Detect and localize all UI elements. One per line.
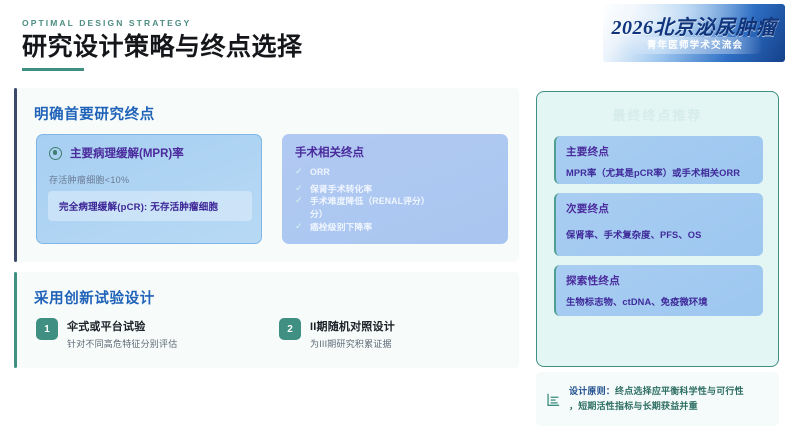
design-step-1: 1 伞式或平台试验 针对不同高危特征分别评估 bbox=[36, 318, 177, 350]
pcr-chip-text: 完全病理缓解(pCR): 无存活肿瘤细胞 bbox=[59, 199, 218, 213]
endpoint-value: 保肾率、手术复杂度、PFS、OS bbox=[566, 227, 752, 241]
check-icon: ✓ bbox=[295, 184, 303, 192]
slide-root: OPTIMAL DESIGN STRATEGY 研究设计策略与终点选择 2026… bbox=[0, 0, 793, 442]
surgical-endpoint-title: 手术相关终点 bbox=[295, 144, 364, 160]
design-principle-text: 设计原则：终点选择应平衡科学性与可行性，短期活性指标与长期获益并重 bbox=[569, 384, 744, 415]
list-item-label: 保肾手术转化率 bbox=[310, 184, 372, 194]
primary-endpoint-heading: 明确首要研究终点 bbox=[34, 103, 155, 124]
design-step-2: 2 II期随机对照设计 为III期研究积累证据 bbox=[279, 318, 395, 350]
list-item: ✓保肾手术转化率 bbox=[295, 183, 501, 197]
check-icon: ✓ bbox=[295, 196, 303, 204]
endpoint-recommendation-title: 最终终点推荐 bbox=[537, 105, 778, 124]
step-description: 为III期研究积累证据 bbox=[310, 337, 395, 350]
pcr-chip: 完全病理缓解(pCR): 无存活肿瘤细胞 bbox=[48, 191, 252, 221]
primary-endpoint-card: 明确首要研究终点 主要病理缓解(MPR)率 存活肿瘤细胞<10% 完全病理缓解(… bbox=[14, 88, 519, 262]
mpr-box: 主要病理缓解(MPR)率 存活肿瘤细胞<10% 完全病理缓解(pCR): 无存活… bbox=[36, 134, 262, 244]
bar-chart-icon bbox=[546, 392, 561, 407]
list-item: 分） bbox=[295, 208, 501, 222]
innovative-design-card: 采用创新试验设计 1 伞式或平台试验 针对不同高危特征分别评估 2 II期随机对… bbox=[14, 272, 519, 368]
surgical-endpoint-box: 手术相关终点 ✓ORR ✓保肾手术转化率 ✓手术难度降低（RENAL评分） 分）… bbox=[282, 134, 508, 244]
logo-main-text: 2026北京泌尿肿瘤 bbox=[610, 11, 778, 40]
step-title: 伞式或平台试验 bbox=[67, 318, 177, 334]
principle-label: 设计原则： bbox=[569, 386, 615, 396]
step-number-badge: 1 bbox=[36, 318, 58, 340]
endpoint-value: MPR率（尤其是pCR率）或手术相关ORR bbox=[566, 165, 752, 179]
principle-line-1: 终点选择应平衡科学性与可行性 bbox=[615, 386, 744, 396]
mpr-subtitle: 存活肿瘤细胞<10% bbox=[49, 173, 129, 186]
list-item: ✓癌栓级别下降率 bbox=[295, 221, 501, 235]
check-icon: ✓ bbox=[295, 167, 303, 175]
page-title: 研究设计策略与终点选择 bbox=[22, 33, 542, 61]
list-item-label: 手术难度降低（RENAL评分） bbox=[310, 196, 430, 206]
list-item-label: ORR bbox=[310, 167, 330, 177]
principle-line-2: ，短期活性指标与长期获益并重 bbox=[569, 401, 698, 411]
surgical-endpoint-list: ✓ORR ✓保肾手术转化率 ✓手术难度降低（RENAL评分） 分） ✓癌栓级别下… bbox=[295, 166, 501, 237]
step-title: II期随机对照设计 bbox=[310, 318, 395, 334]
list-item: ✓手术难度降低（RENAL评分） bbox=[295, 195, 501, 209]
endpoint-value: 生物标志物、ctDNA、免疫微环境 bbox=[566, 294, 752, 308]
endpoint-block-primary: 主要终点 MPR率（尤其是pCR率）或手术相关ORR bbox=[554, 136, 763, 184]
innovative-design-heading: 采用创新试验设计 bbox=[34, 287, 155, 308]
step-description: 针对不同高危特征分别评估 bbox=[67, 337, 177, 350]
list-item: ✓ORR bbox=[295, 166, 501, 180]
mpr-title: 主要病理缓解(MPR)率 bbox=[70, 145, 184, 161]
endpoint-label: 次要终点 bbox=[566, 201, 752, 216]
target-icon bbox=[49, 147, 62, 160]
slide-header: OPTIMAL DESIGN STRATEGY 研究设计策略与终点选择 bbox=[22, 18, 542, 71]
step-body: II期随机对照设计 为III期研究积累证据 bbox=[310, 318, 395, 350]
conference-logo: 2026北京泌尿肿瘤 青年医师学术交流会 bbox=[603, 4, 785, 62]
endpoint-label: 主要终点 bbox=[566, 144, 752, 159]
title-underline bbox=[22, 68, 84, 71]
endpoint-recommendation-card: 最终终点推荐 主要终点 MPR率（尤其是pCR率）或手术相关ORR 次要终点 保… bbox=[536, 91, 779, 367]
logo-sub-text: 青年医师学术交流会 bbox=[627, 37, 763, 54]
endpoint-block-exploratory: 探索性终点 生物标志物、ctDNA、免疫微环境 bbox=[554, 265, 763, 316]
mpr-header: 主要病理缓解(MPR)率 bbox=[49, 145, 184, 161]
header-eyebrow: OPTIMAL DESIGN STRATEGY bbox=[22, 18, 542, 28]
endpoint-label: 探索性终点 bbox=[566, 273, 752, 288]
endpoint-block-secondary: 次要终点 保肾率、手术复杂度、PFS、OS bbox=[554, 193, 763, 256]
step-number-badge: 2 bbox=[279, 318, 301, 340]
step-body: 伞式或平台试验 针对不同高危特征分别评估 bbox=[67, 318, 177, 350]
check-icon: ✓ bbox=[295, 222, 303, 230]
list-item-label: 分） bbox=[310, 209, 328, 219]
design-principle-note: 设计原则：终点选择应平衡科学性与可行性，短期活性指标与长期获益并重 bbox=[536, 372, 779, 426]
list-item-label: 癌栓级别下降率 bbox=[310, 222, 372, 232]
